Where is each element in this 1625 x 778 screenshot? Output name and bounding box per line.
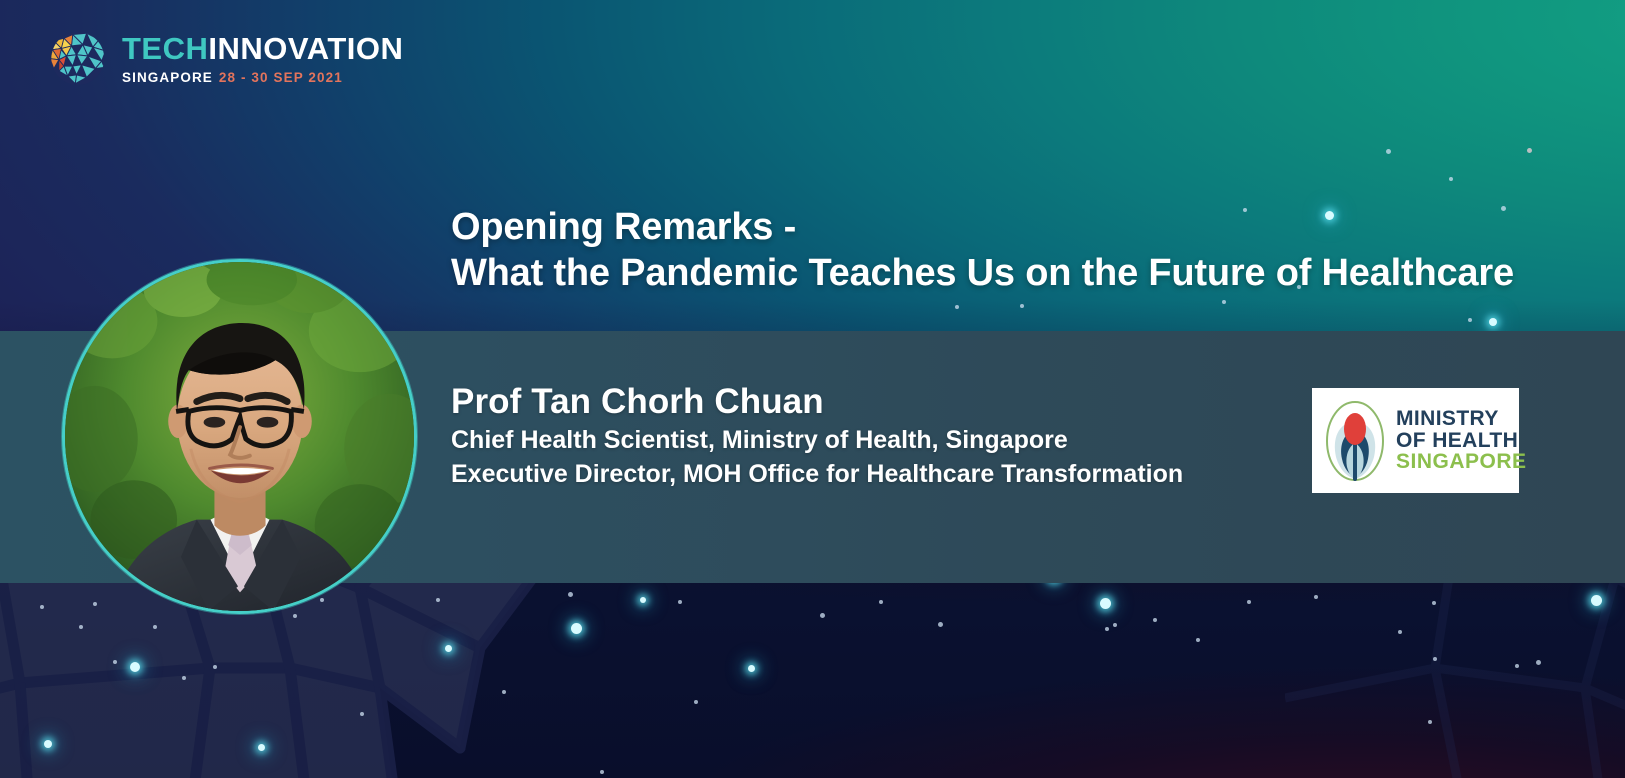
speaker-details: Prof Tan Chorh Chuan Chief Health Scient… — [451, 382, 1183, 492]
event-logo-text: TECHINNOVATION SINGAPORE28 - 30 SEP 2021 — [122, 33, 403, 85]
session-title-line1: Opening Remarks - — [451, 206, 796, 248]
moh-line-singapore: SINGAPORE — [1396, 451, 1527, 472]
event-logo-subline: SINGAPORE28 - 30 SEP 2021 — [122, 71, 403, 85]
speaker-portrait — [62, 259, 417, 614]
speaker-role-line1: Chief Health Scientist, Ministry of Heal… — [451, 423, 1183, 458]
event-dates: 28 - 30 SEP 2021 — [219, 70, 343, 85]
moh-line-of-health: OF HEALTH — [1396, 430, 1527, 451]
speaker-name: Prof Tan Chorh Chuan — [451, 382, 1183, 423]
session-title: Opening Remarks - What the Pandemic Teac… — [451, 205, 1514, 296]
moh-line-ministry: MINISTRY — [1396, 408, 1527, 429]
session-title-line2: What the Pandemic Teaches Us on the Futu… — [451, 251, 1514, 297]
brand-innovation: INNOVATION — [208, 31, 403, 66]
speaker-role-line2: Executive Director, MOH Office for Healt… — [451, 457, 1183, 492]
speaker-portrait-image — [65, 262, 414, 611]
moh-logo-text: MINISTRY OF HEALTH SINGAPORE — [1396, 408, 1527, 472]
event-logo-brand: TECHINNOVATION — [122, 33, 403, 64]
brand-tech: TECH — [122, 31, 208, 66]
moh-emblem-icon — [1324, 399, 1386, 483]
organisation-logo: MINISTRY OF HEALTH SINGAPORE — [1312, 388, 1519, 493]
low-poly-globe-icon — [45, 27, 108, 90]
event-location: SINGAPORE — [122, 70, 213, 85]
slide-canvas: TECHINNOVATION SINGAPORE28 - 30 SEP 2021… — [0, 0, 1625, 778]
event-logo: TECHINNOVATION SINGAPORE28 - 30 SEP 2021 — [45, 27, 403, 90]
